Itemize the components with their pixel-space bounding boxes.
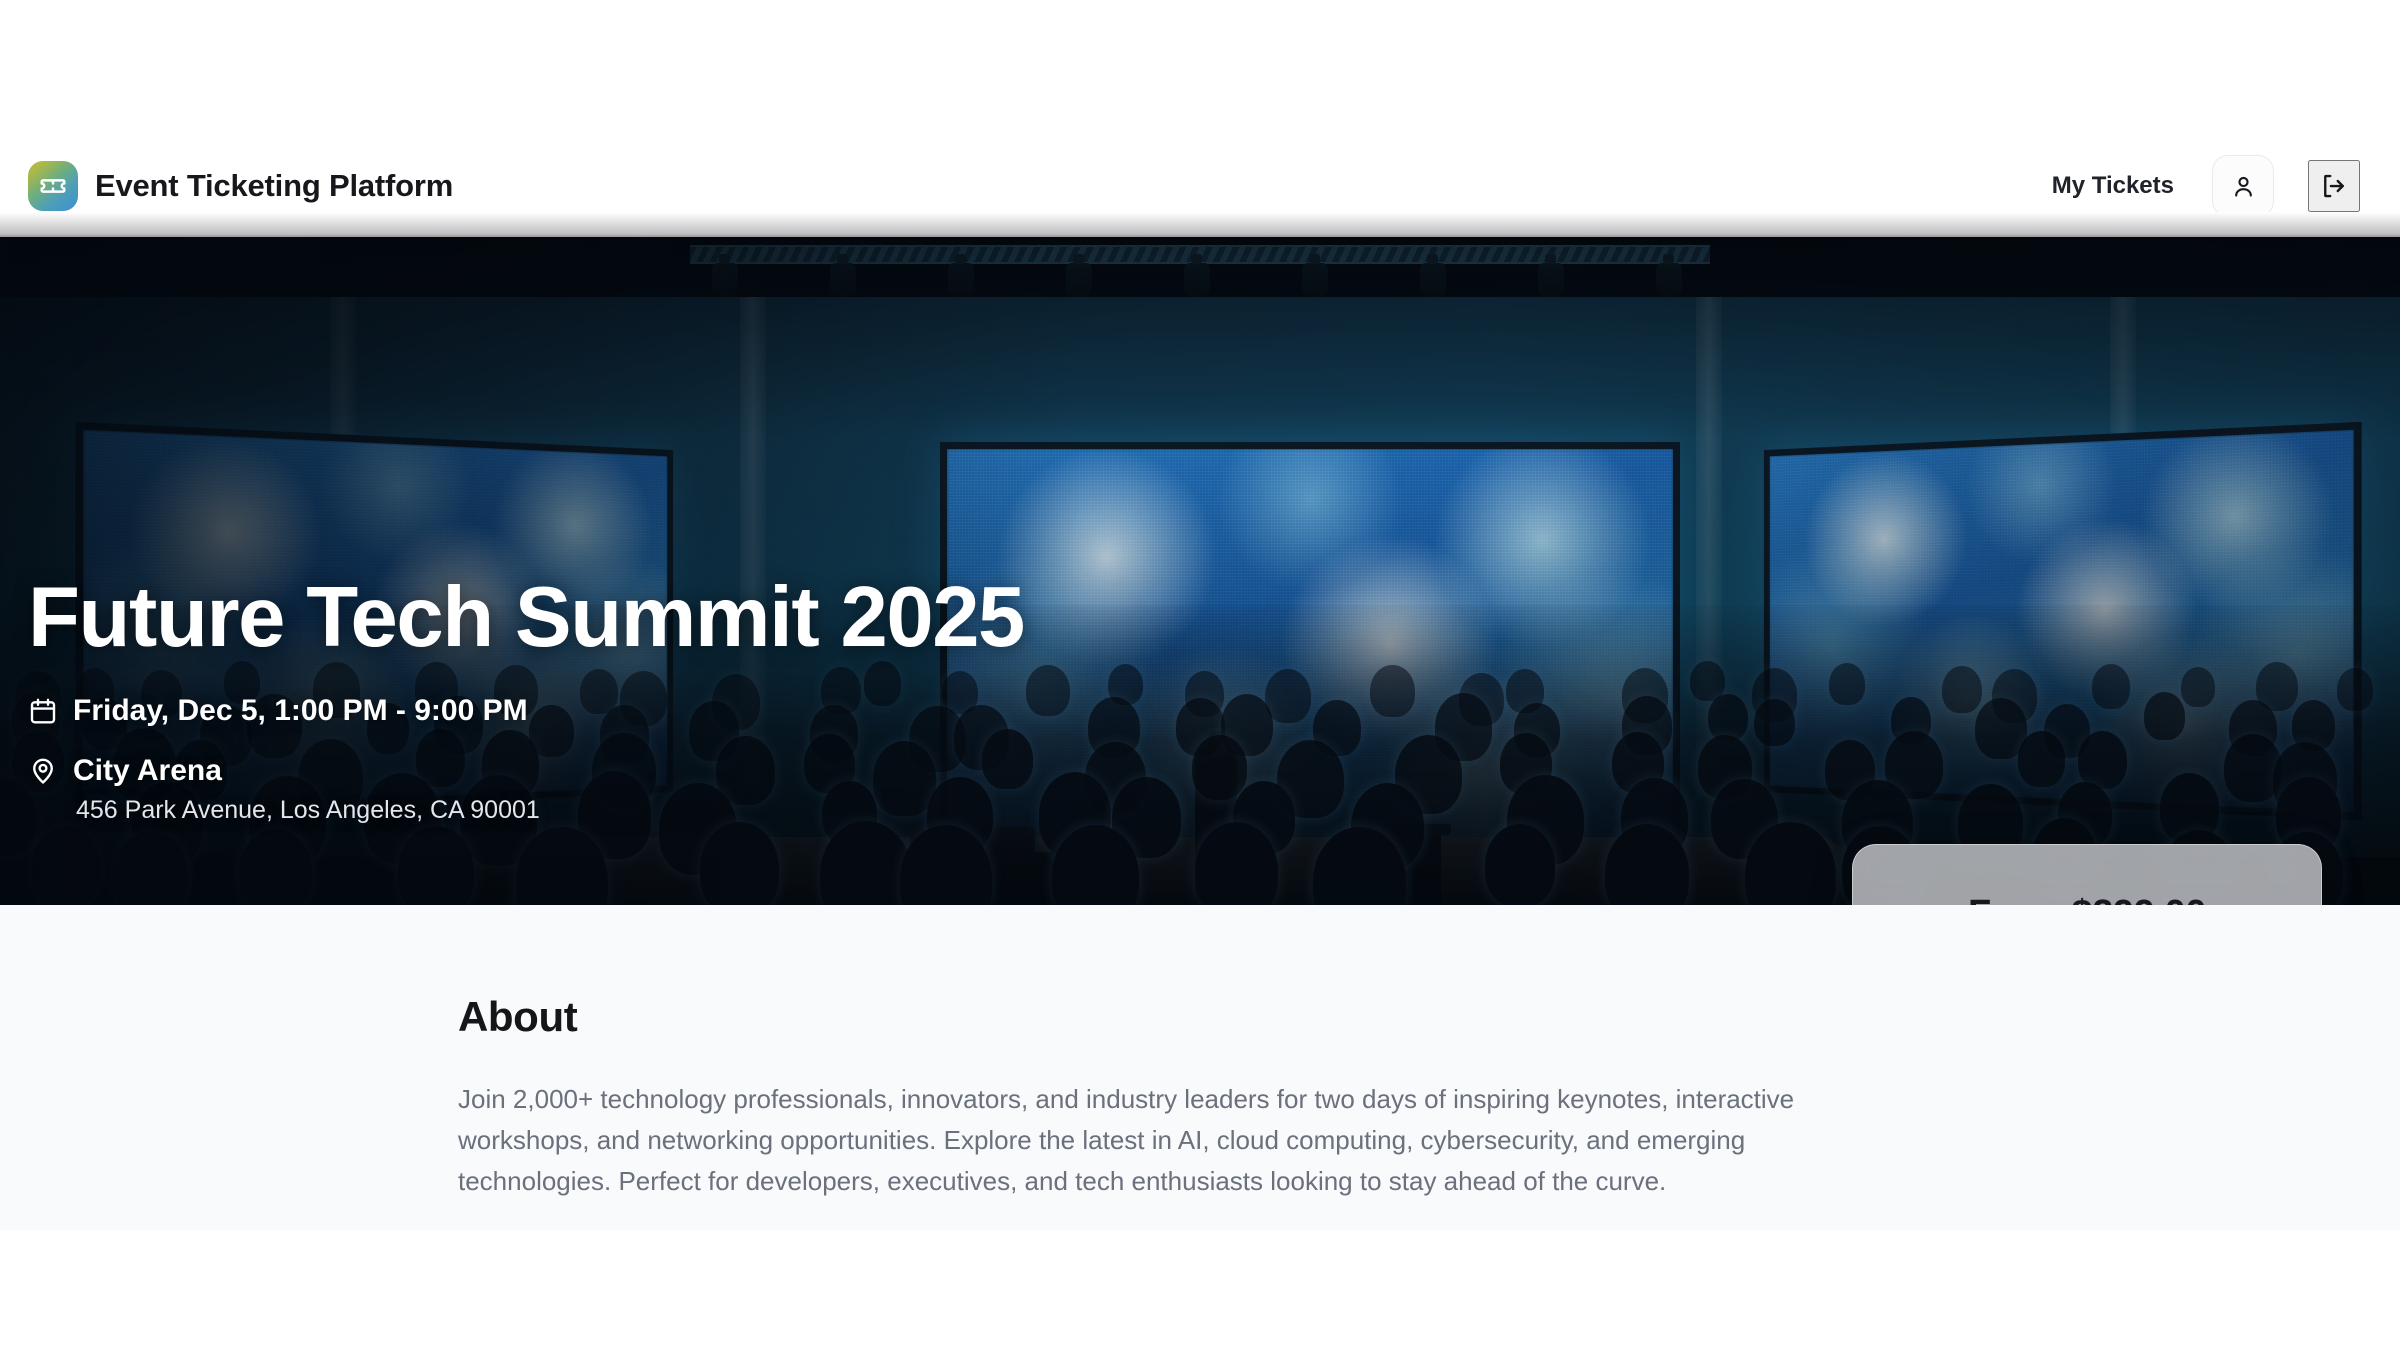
map-pin-icon (28, 756, 58, 786)
nav-my-tickets[interactable]: My Tickets (2048, 166, 2178, 206)
about-body-text: Join 2,000+ technology professionals, in… (458, 1079, 1898, 1201)
event-title: Future Tech Summit 2025 (28, 575, 1024, 660)
page-root: Event Ticketing Platform My Tickets (0, 0, 2400, 1350)
event-date-row: Friday, Dec 5, 1:00 PM - 9:00 PM (28, 694, 1024, 728)
ticket-logo-icon (28, 161, 78, 211)
hero-section: Future Tech Summit 2025 Friday, Dec 5, 1… (0, 237, 2400, 905)
page-bottom-spacer (0, 1230, 2400, 1350)
user-icon (2230, 173, 2257, 200)
hero-text-block: Future Tech Summit 2025 Friday, Dec 5, 1… (28, 575, 1024, 825)
event-date-text: Friday, Dec 5, 1:00 PM - 9:00 PM (73, 694, 528, 728)
brand[interactable]: Event Ticketing Platform (28, 161, 453, 211)
event-venue-text: City Arena (73, 754, 222, 788)
price-label: From $299.00 (1968, 893, 2206, 906)
logout-button[interactable] (2308, 160, 2360, 212)
account-button[interactable] (2212, 155, 2274, 217)
event-address-text: 456 Park Avenue, Los Angeles, CA 90001 (76, 796, 1024, 825)
logout-icon (2319, 171, 2349, 201)
about-section: About Join 2,000+ technology professiona… (0, 905, 2400, 1230)
header-nav: My Tickets (2048, 155, 2372, 217)
event-venue-row: City Arena (28, 754, 1024, 788)
top-gutter (0, 0, 2400, 135)
brand-title: Event Ticketing Platform (95, 168, 453, 204)
about-heading: About (458, 993, 1938, 1041)
header-shadow (0, 212, 2400, 237)
price-card: From $299.00 Get Tickets (1852, 844, 2322, 905)
calendar-icon (28, 696, 58, 726)
